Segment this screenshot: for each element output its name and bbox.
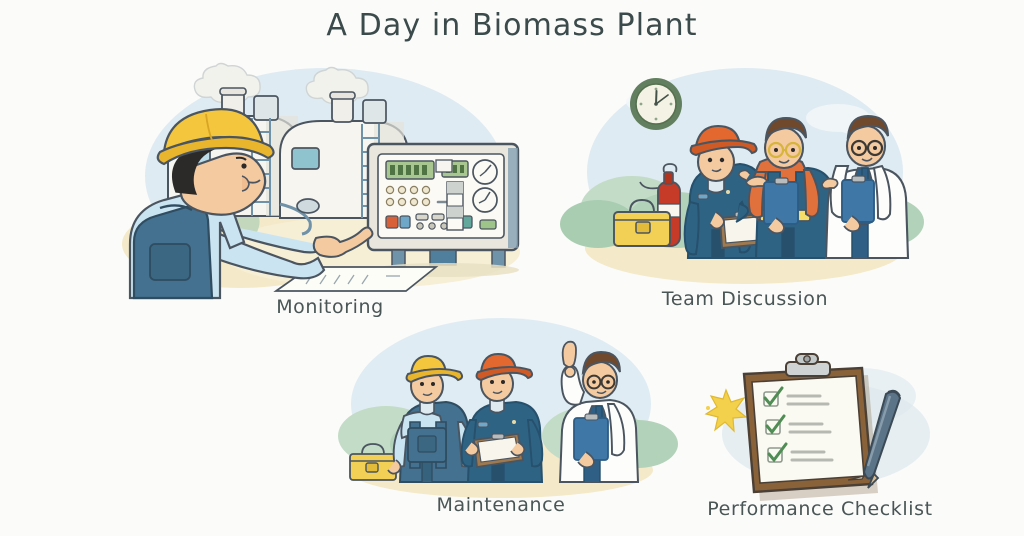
performance-checklist-scene: [700, 348, 940, 503]
illustration-poster: A Day in Biomass Plant: [0, 0, 1024, 536]
clipboard-clip: [786, 354, 830, 376]
eye: [501, 380, 505, 384]
toolbox-latch: [636, 222, 650, 233]
toolbox-latch: [366, 463, 378, 472]
eye: [708, 158, 712, 162]
page-title: A Day in Biomass Plant: [0, 8, 1024, 43]
hand: [565, 367, 575, 377]
id-badge: [698, 194, 708, 199]
eye: [592, 380, 596, 384]
caption-team-discussion: Team Discussion: [580, 288, 910, 310]
eye: [606, 380, 610, 384]
eye: [873, 146, 877, 150]
panel-performance-checklist: Performance Checklist: [700, 348, 940, 533]
clock-hour-hand: [656, 91, 657, 104]
id-badge: [478, 422, 488, 427]
bar-gauge: [436, 160, 452, 172]
clipboard-blue: [574, 414, 608, 467]
panel-maintenance: Maintenance: [348, 318, 654, 533]
eye: [791, 148, 795, 152]
eye: [774, 148, 778, 152]
tank-chimney: [332, 96, 353, 122]
level-gauge: [447, 182, 463, 230]
overalls-pocket: [418, 436, 436, 452]
tank-window: [292, 148, 319, 169]
caption-monitoring: Monitoring: [120, 296, 540, 318]
eye: [241, 163, 246, 168]
raised-finger: [563, 342, 576, 367]
panel-team-discussion: Team Discussion: [580, 62, 910, 322]
eye: [420, 382, 424, 386]
eye: [720, 158, 724, 162]
team-discussion-scene: [580, 62, 910, 292]
wall-clock: [630, 78, 682, 130]
reset-button: [400, 216, 410, 228]
caption-maintenance: Maintenance: [348, 494, 654, 516]
monitoring-scene: [120, 48, 540, 298]
hand: [822, 179, 838, 189]
caption-performance-checklist: Performance Checklist: [700, 498, 940, 520]
lcd-readout: [386, 161, 468, 179]
pipe-valve: [297, 199, 319, 213]
eye: [490, 380, 494, 384]
eye: [857, 146, 861, 150]
alarm-button: [386, 216, 398, 228]
clipboard: [744, 354, 878, 501]
maintenance-scene: [348, 318, 654, 498]
eye: [431, 382, 435, 386]
panel-monitoring: Monitoring: [120, 48, 540, 323]
overalls-pocket: [150, 244, 190, 280]
